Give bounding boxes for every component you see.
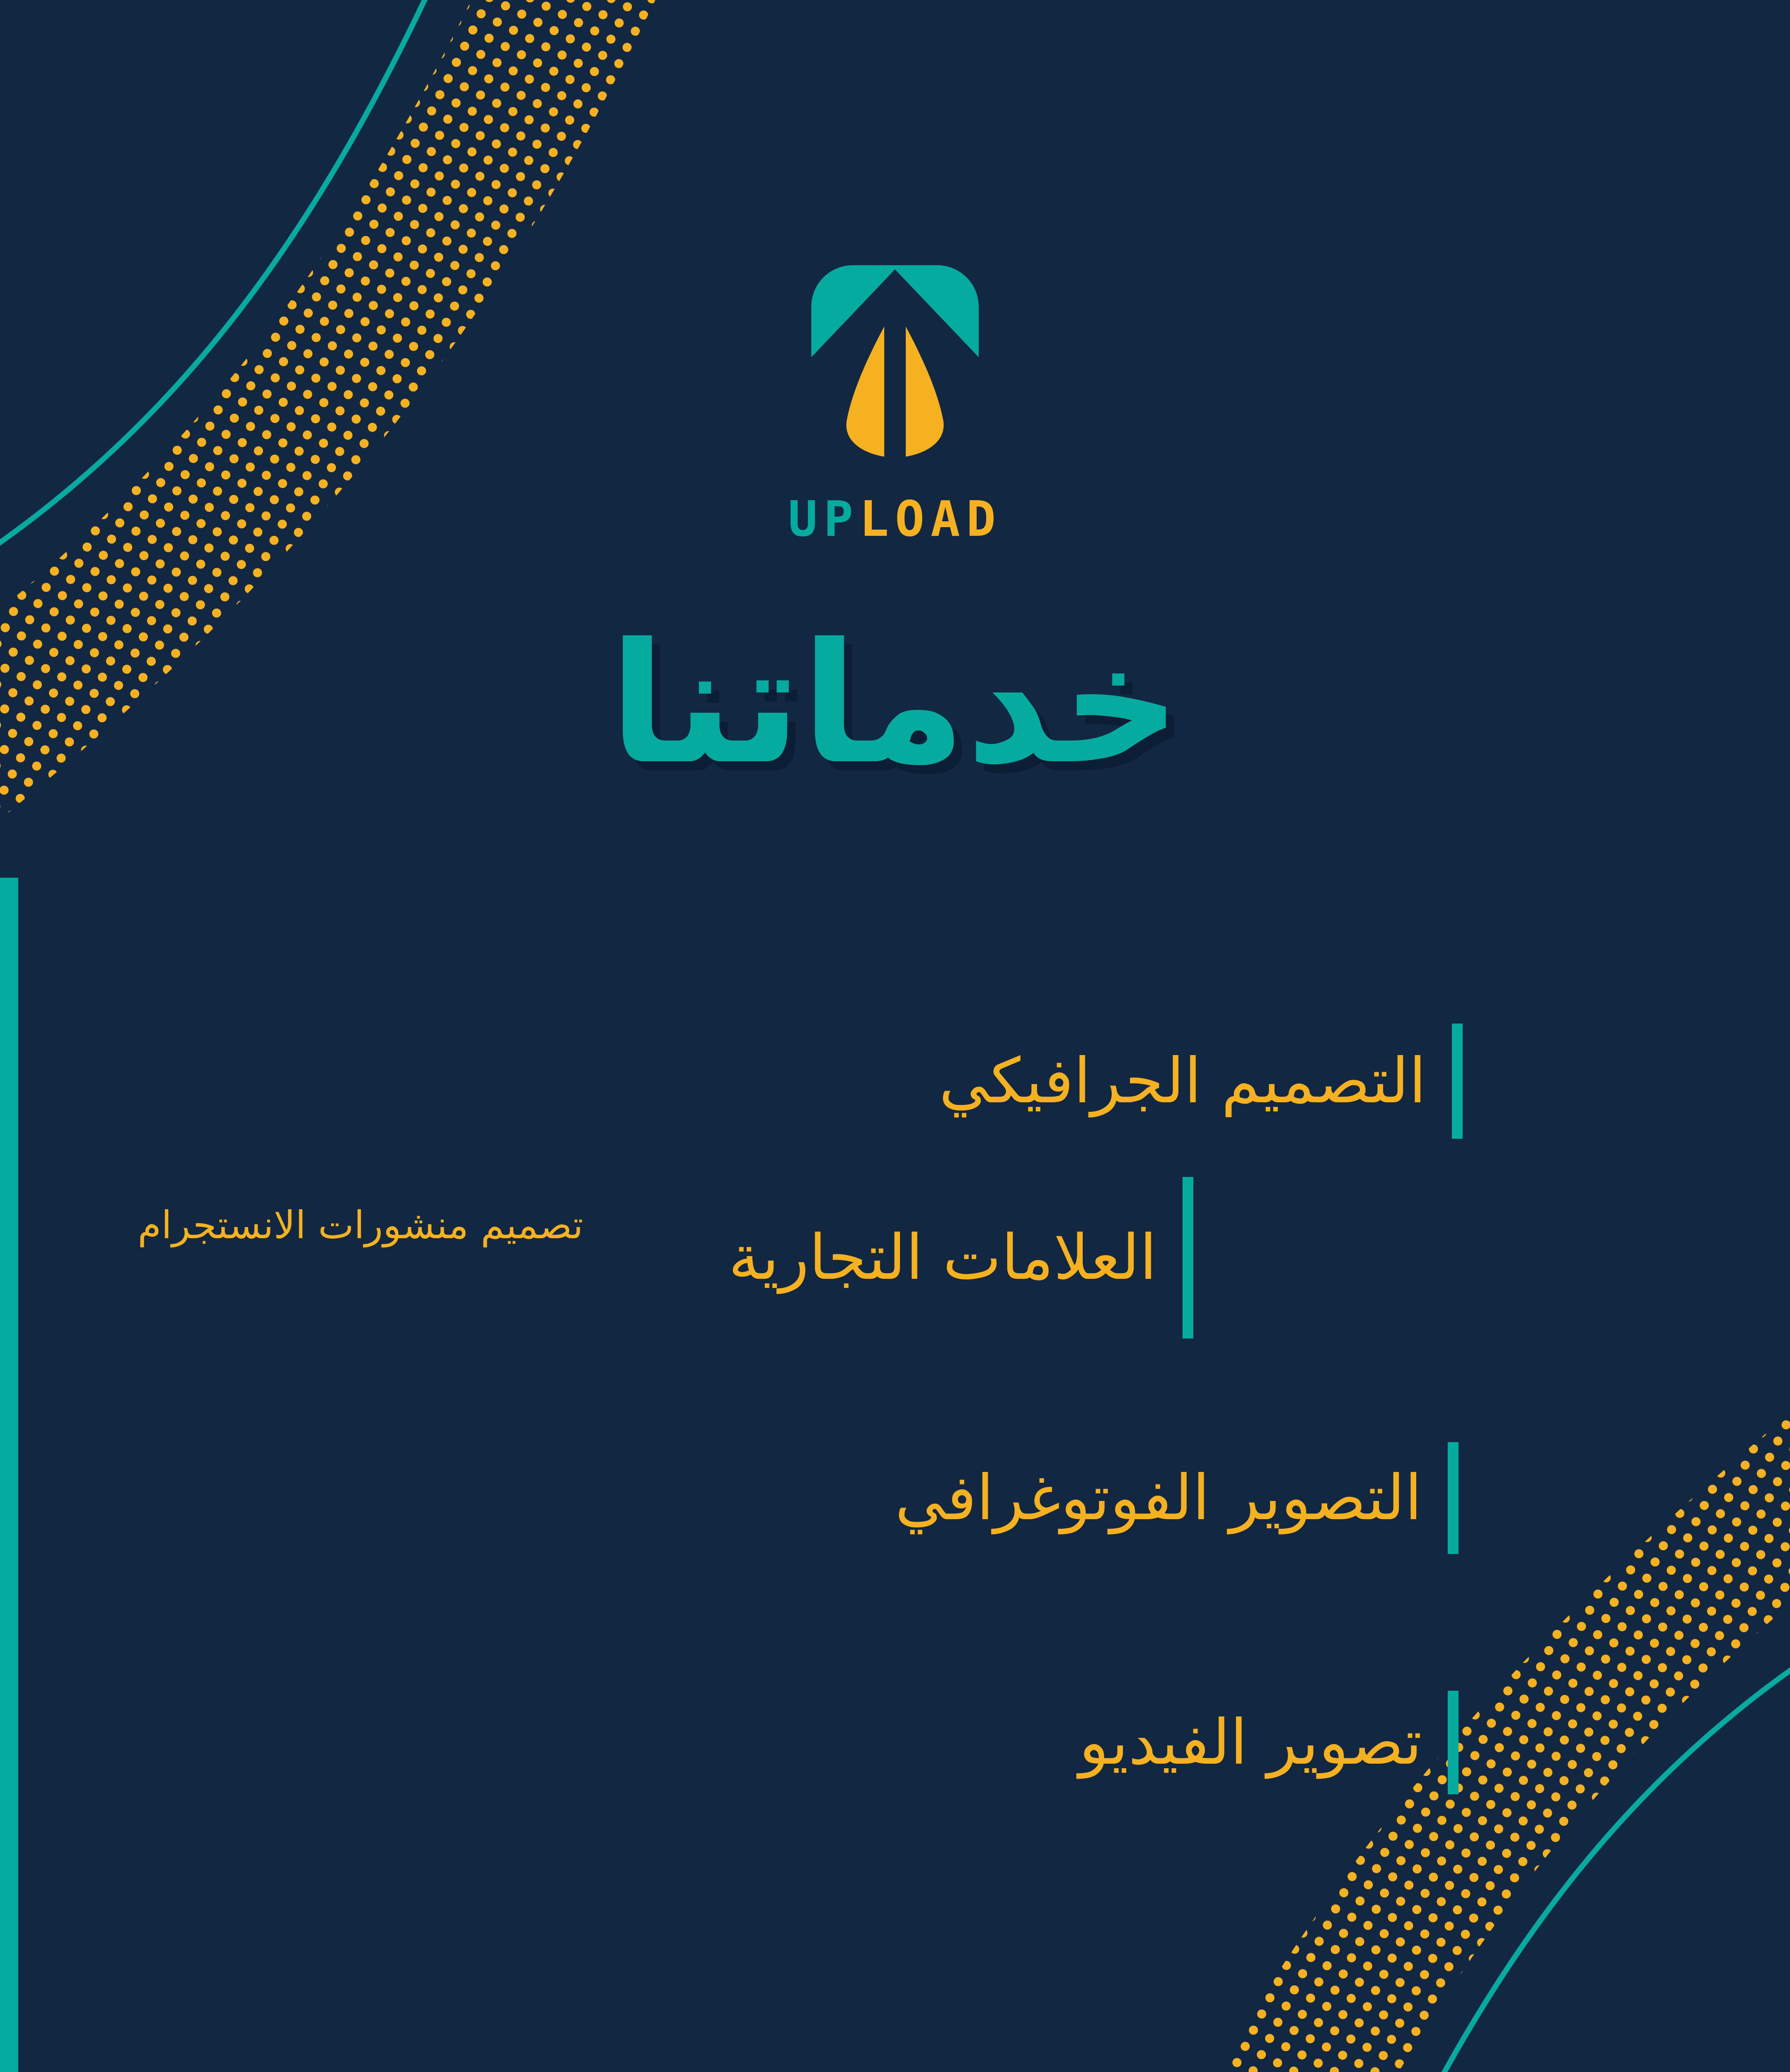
service-item-videography[interactable]: تصوير الفيديو [1079,1691,1459,1794]
accent-bar-icon [1448,1442,1459,1554]
left-teal-rail [0,878,18,2072]
page-title: خدماتنا [0,622,1790,787]
service-item-graphic-design[interactable]: التصميم الجرافيكي [939,1024,1463,1139]
service-item-photography[interactable]: التصوير الفوتوغرافي [895,1442,1459,1554]
service-label: التصوير الفوتوغرافي [895,1462,1422,1534]
accent-bar-icon [1183,1177,1193,1339]
brand-block: UPLOAD [0,265,1790,543]
service-note-instagram-posts: تصميم منشورات الانستجرام [104,1198,617,1253]
accent-bar-icon [1448,1691,1459,1794]
service-label: العلامات التجارية [728,1222,1157,1294]
upload-arrow-shield-logo [811,265,979,462]
service-label: تصوير الفيديو [1079,1707,1422,1779]
accent-bar-icon [1452,1024,1463,1139]
bottom-right-teal-curve [1309,1566,1790,2072]
poster-canvas: UPLOAD خدماتنا التصميم الجرافيكي العلاما… [0,0,1790,2072]
service-label: التصميم الجرافيكي [939,1046,1426,1117]
logo-wordmark-up: UP [788,490,859,547]
logo-wordmark-load: LOAD [859,490,1002,547]
service-item-branding[interactable]: العلامات التجارية [728,1177,1193,1339]
logo-wordmark: UPLOAD [788,494,1002,543]
